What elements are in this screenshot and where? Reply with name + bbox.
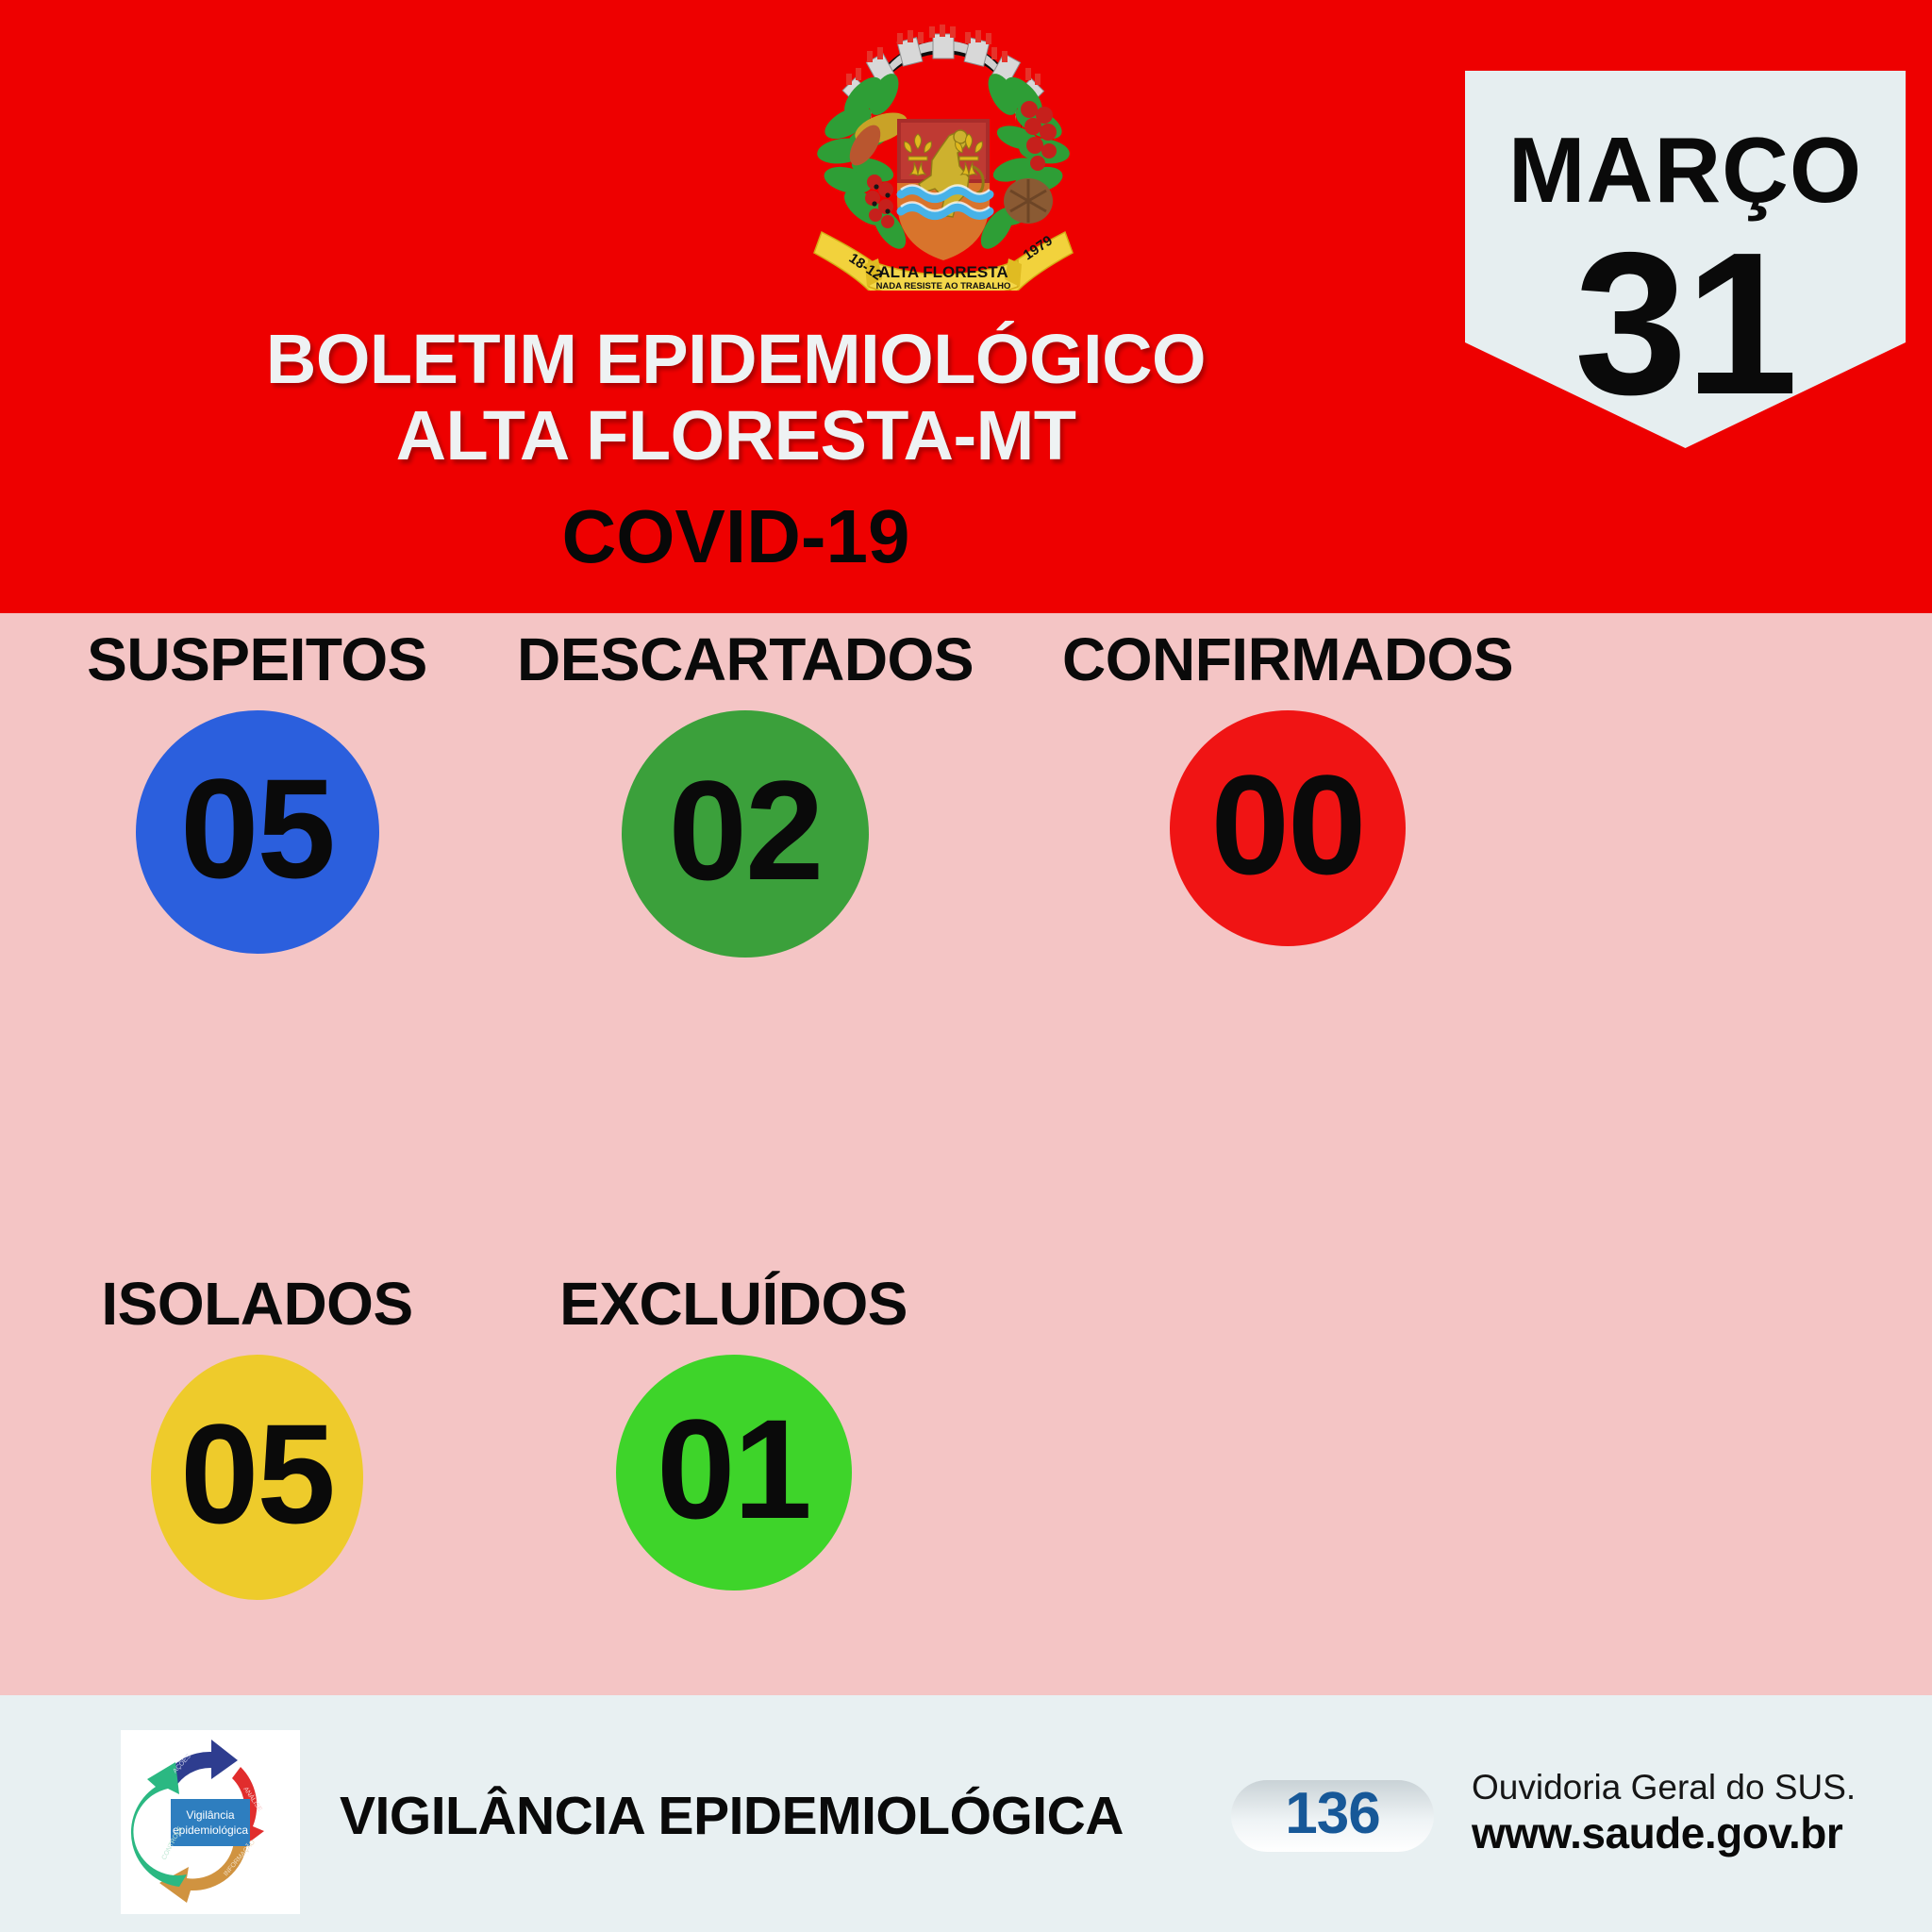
stat-bubble-confirmados: 00 xyxy=(1170,710,1406,946)
stat-descartados: DESCARTADOS 02 xyxy=(491,629,1000,958)
sus-website: www.saude.gov.br xyxy=(1472,1808,1856,1858)
stat-label-isolados: ISOLADOS xyxy=(38,1274,476,1334)
stat-value-descartados: 02 xyxy=(669,759,823,901)
sus-phone-badge: 136 xyxy=(1231,1780,1434,1852)
sus-info: Ouvidoria Geral do SUS. www.saude.gov.br xyxy=(1472,1768,1856,1857)
epidemiological-surveillance-cycle-icon: Vigilância epidemiológica AÇÕES CONTROLE… xyxy=(121,1730,300,1914)
stat-bubble-isolados: 05 xyxy=(151,1355,363,1600)
stat-label-suspeitos: SUSPEITOS xyxy=(38,629,476,690)
stat-value-confirmados: 00 xyxy=(1211,754,1365,895)
stat-value-suspeitos: 05 xyxy=(180,758,334,899)
calendar-month: MARÇO xyxy=(1465,124,1906,216)
stat-isolados: ISOLADOS 05 xyxy=(38,1274,476,1600)
svg-text:NADA RESISTE AO TRABALHO: NADA RESISTE AO TRABALHO xyxy=(876,281,1011,291)
page-title: BOLETIM EPIDEMIOLÓGICO ALTA FLORESTA-MT … xyxy=(0,321,1472,575)
stat-bubble-descartados: 02 xyxy=(622,710,869,958)
stats-area: SUSPEITOS 05 DESCARTADOS 02 CONFIRMADOS … xyxy=(0,613,1932,1695)
footer-logo-text: VIGILÂNCIA EPIDEMIOLÓGICA xyxy=(340,1785,1124,1847)
sus-ouvidoria-label: Ouvidoria Geral do SUS. xyxy=(1472,1768,1856,1808)
svg-text:Vigilância: Vigilância xyxy=(186,1808,234,1822)
stat-bubble-suspeitos: 05 xyxy=(136,710,379,954)
coat-of-arms-icon: 18-12 1979 ALTA FLORESTA NADA RESISTE AO… xyxy=(807,8,1080,291)
title-line-1: BOLETIM EPIDEMIOLÓGICO xyxy=(0,321,1472,397)
stat-bubble-excluidos: 01 xyxy=(616,1355,852,1591)
header-banner: 18-12 1979 ALTA FLORESTA NADA RESISTE AO… xyxy=(0,0,1932,613)
stat-label-descartados: DESCARTADOS xyxy=(491,629,1000,690)
stat-excluidos: EXCLUÍDOS 01 xyxy=(472,1274,995,1591)
stat-confirmados: CONFIRMADOS 00 xyxy=(1019,629,1557,946)
calendar-day: 31 xyxy=(1465,222,1906,425)
title-line-2: ALTA FLORESTA-MT xyxy=(0,397,1472,474)
stat-label-confirmados: CONFIRMADOS xyxy=(1019,629,1557,690)
svg-text:ALTA FLORESTA: ALTA FLORESTA xyxy=(878,263,1008,281)
svg-text:epidemiológica: epidemiológica xyxy=(173,1824,248,1837)
stat-suspeitos: SUSPEITOS 05 xyxy=(38,629,476,954)
footer-bar: Vigilância epidemiológica AÇÕES CONTROLE… xyxy=(0,1695,1932,1932)
subtitle-covid19: COVID-19 xyxy=(0,499,1472,575)
calendar-date-banner: MARÇO 31 xyxy=(1465,71,1906,448)
stat-label-excluidos: EXCLUÍDOS xyxy=(472,1274,995,1334)
stat-value-excluidos: 01 xyxy=(657,1398,810,1540)
sus-phone-number: 136 xyxy=(1285,1785,1379,1843)
stat-value-isolados: 05 xyxy=(180,1403,334,1544)
